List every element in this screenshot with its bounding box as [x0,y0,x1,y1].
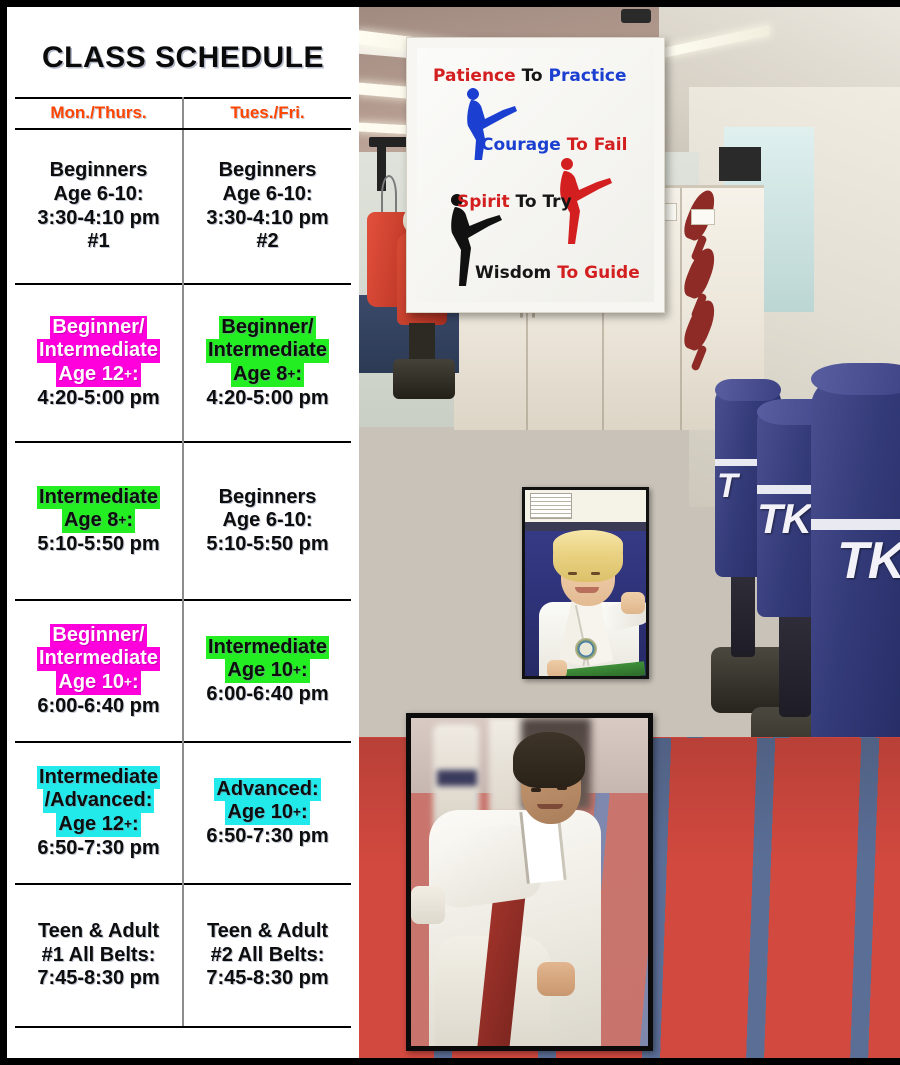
motto-word: Patience [433,66,516,86]
motto-word: To [522,66,543,86]
motto-word: To [567,135,588,155]
class-time: 3:30-4:10 pm [186,207,349,231]
class-level-2: Intermediate [37,647,160,671]
eye [568,572,577,575]
uniform-badge [575,638,597,660]
column-header-mon-thurs: Mon./Thurs. [15,98,183,129]
class-time: 6:50-7:30 pm [17,837,180,861]
motto-word: To [557,263,578,283]
class-level-2: /Advanced: [43,789,155,813]
class-level: Beginners [186,159,349,183]
class-time: 3:30-4:10 pm [17,207,180,231]
class-cell-mon-2: Beginner/ Intermediate Age 12+: 4:20-5:0… [15,284,183,442]
eye [591,572,600,575]
table-row: Intermediate /Advanced: Age 12+: 6:50-7:… [15,742,351,884]
class-time: 6:00-6:40 pm [17,695,180,719]
punching-bag-top [811,363,900,395]
table-row: Beginners Age 6-10: 3:30-4:10 pm #1 Begi… [15,129,351,284]
class-cell-tue-5: Advanced: Age 10+: 6:50-7:30 pm [183,742,351,884]
class-level: Teen & Adult [186,920,349,944]
hand [411,886,445,924]
class-time: 6:00-6:40 pm [186,683,349,707]
class-age: Age 10+: [56,671,140,695]
motto-word: Courage [481,135,561,155]
class-level-2: Intermediate [206,339,329,363]
page-title: CLASS SCHEDULE [7,7,359,75]
motto-line-3: Spirit To Try [457,192,572,212]
motto-word: Wisdom [475,263,551,283]
class-time: 4:20-5:00 pm [186,387,349,411]
class-age: Age 10+: [225,801,309,825]
mouth [575,587,599,593]
motto-line-1: Patience To Practice [433,66,627,86]
hair [513,732,585,788]
fist [621,592,645,614]
class-number: #2 All Belts: [186,944,349,968]
bag-chain [381,175,397,215]
student-photo-red-belt-boy [406,713,653,1051]
wall-photo [691,209,715,225]
motto-word: Try [542,192,571,212]
class-level-2: Intermediate [37,339,160,363]
class-number: #2 [186,230,349,254]
class-time: 7:45-8:30 pm [17,967,180,991]
class-age: Age 8+: [231,363,304,387]
class-cell-mon-3: Intermediate Age 8+: 5:10-5:50 pm [15,442,183,600]
class-age: Age 12+: [56,813,140,837]
table-row: Intermediate Age 8+: 5:10-5:50 pm Beginn… [15,442,351,600]
class-time: 5:10-5:50 pm [186,533,349,557]
class-number: #1 All Belts: [17,944,180,968]
class-level: Teen & Adult [17,920,180,944]
class-level: Beginner/ [50,624,146,648]
eye [531,788,541,792]
class-cell-mon-5: Intermediate /Advanced: Age 12+: 6:50-7:… [15,742,183,884]
photo-bg-chart [530,493,572,519]
class-age: Age 6-10: [17,183,180,207]
class-cell-tue-6: Teen & Adult #2 All Belts: 7:45-8:30 pm [183,884,351,1027]
student-photo-blond-boy [522,487,649,679]
class-time: 7:45-8:30 pm [186,967,349,991]
bag-label: T [717,467,737,506]
class-schedule-poster: CLASS SCHEDULE Mon./Thurs. Tues./Fri. Be… [0,0,900,1065]
fist [547,660,567,678]
class-level: Intermediate [37,766,160,790]
motto-word: Fail [594,135,628,155]
motto-poster-inner: Patience To Practice Courage To Fail Spi… [417,48,654,302]
table-header-row: Mon./Thurs. Tues./Fri. [15,98,351,129]
class-time: 5:10-5:50 pm [17,533,180,557]
class-cell-mon-6: Teen & Adult #1 All Belts: 7:45-8:30 pm [15,884,183,1027]
schedule-panel: CLASS SCHEDULE Mon./Thurs. Tues./Fri. Be… [7,7,359,1058]
class-level: Beginners [186,486,349,510]
table-row: Teen & Adult #1 All Belts: 7:45-8:30 pm … [15,884,351,1027]
motto-word: Spirit [457,192,510,212]
bag-band [811,519,900,530]
hair-bangs [553,530,623,560]
class-time: 4:20-5:00 pm [17,387,180,411]
mouth [537,804,563,809]
class-time: 6:50-7:30 pm [186,825,349,849]
shelf-box [719,147,761,181]
class-age: Age 6-10: [186,509,349,533]
table-row: Beginner/ Intermediate Age 12+: 4:20-5:0… [15,284,351,442]
column-header-tues-fri: Tues./Fri. [183,98,351,129]
hand [537,962,575,996]
class-level: Beginner/ [50,316,146,340]
motto-line-4: Wisdom To Guide [475,263,640,283]
class-age: Age 6-10: [186,183,349,207]
motto-word: Guide [584,263,640,283]
background-belt [437,770,477,786]
schedule-table: Mon./Thurs. Tues./Fri. Beginners Age 6-1… [15,97,351,1028]
class-level: Intermediate [37,486,160,510]
class-cell-tue-1: Beginners Age 6-10: 3:30-4:10 pm #2 [183,129,351,284]
punching-bag-top [715,379,781,401]
bag-label: TKD [837,531,900,591]
class-cell-mon-4: Beginner/ Intermediate Age 10+: 6:00-6:4… [15,600,183,742]
class-age: Age 8+: [62,509,135,533]
class-cell-tue-3: Beginners Age 6-10: 5:10-5:50 pm [183,442,351,600]
class-level: Beginners [17,159,180,183]
motto-word: To [516,192,537,212]
training-dummy-base [393,359,455,399]
class-level: Beginner/ [219,316,315,340]
class-level: Advanced: [214,778,320,802]
motto-line-2: Courage To Fail [481,135,627,155]
motto-word: Practice [549,66,627,86]
ceiling-speaker [621,9,651,23]
class-number: #1 [17,230,180,254]
class-cell-mon-1: Beginners Age 6-10: 3:30-4:10 pm #1 [15,129,183,284]
eye [557,786,567,790]
class-level: Intermediate [206,636,329,660]
class-age: Age 10+: [225,659,309,683]
class-age: Age 12+: [56,363,140,387]
class-cell-tue-2: Beginner/ Intermediate Age 8+: 4:20-5:00… [183,284,351,442]
table-row: Beginner/ Intermediate Age 10+: 6:00-6:4… [15,600,351,742]
dojo-photograph: T TKD TKD [359,7,900,1058]
dojang-motto-poster: Patience To Practice Courage To Fail Spi… [406,37,665,313]
class-cell-tue-4: Intermediate Age 10+: 6:00-6:40 pm [183,600,351,742]
